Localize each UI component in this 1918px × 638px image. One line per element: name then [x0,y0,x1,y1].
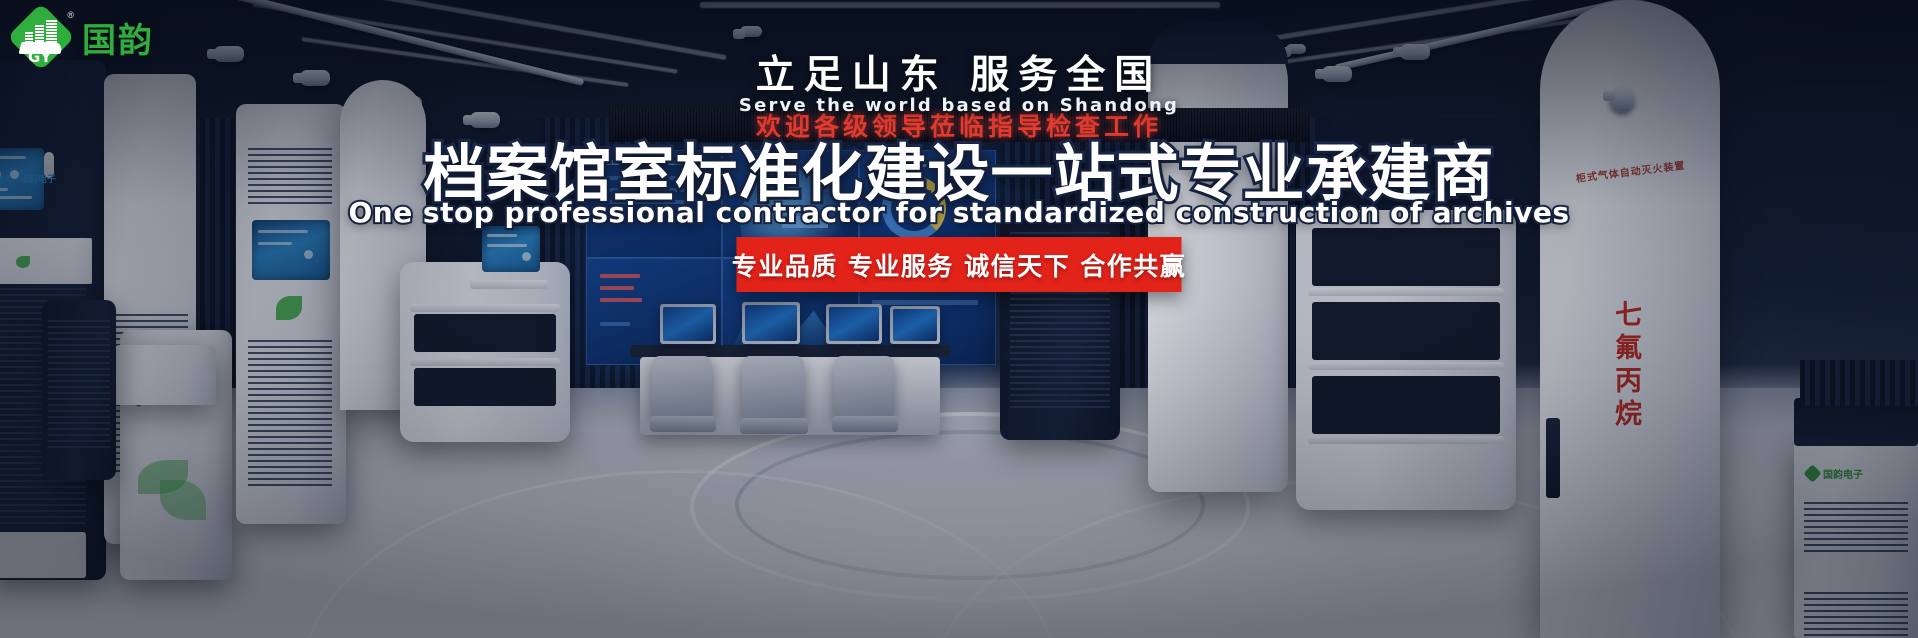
logo-mark: GY ® [10,6,72,68]
hero-overlay: GY ® 国韵 立足山东 服务全国 Serve the world based … [0,0,1918,638]
hero-slogan-red-bar[interactable]: 专业品质 专业服务 诚信天下 合作共赢 [737,237,1182,292]
hero-banner: 国韵电子 国韵电子 [0,0,1918,638]
slogan-chinese: 立足山东 服务全国 [0,44,1918,100]
logo-gy-text: GY [28,48,52,66]
slogan-english: Serve the world based on Shandong [0,95,1918,116]
site-logo[interactable]: GY ® 国韵 [10,6,154,68]
logo-registered-icon: ® [67,10,74,20]
hero-headline-english: One stop professional contractor for sta… [0,196,1918,229]
hero-slogan-red-bar-text: 专业品质 专业服务 诚信天下 合作共赢 [732,247,1187,283]
logo-building-icon [25,20,59,44]
logo-brand-name: 国韵 [82,13,154,62]
